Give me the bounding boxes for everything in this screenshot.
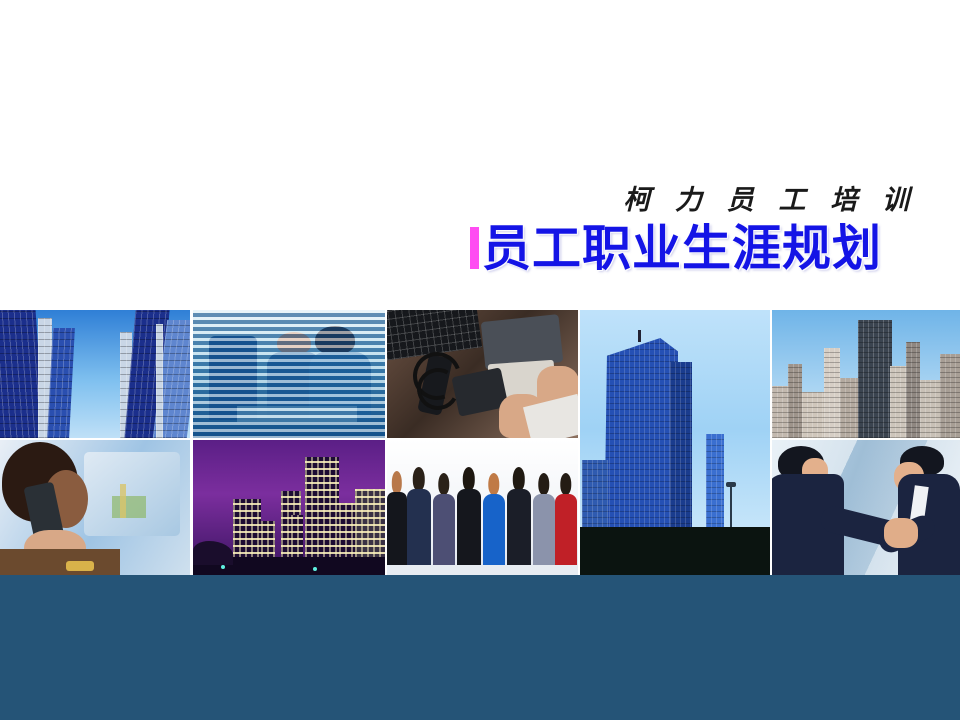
photo-glass-office-towers-upward: [0, 310, 190, 438]
photo-woman-on-phone-at-monitor: [0, 440, 190, 575]
photo-strip: [0, 310, 960, 575]
photo-city-skyline-daylight: [772, 310, 960, 438]
photo-business-handshake: [772, 440, 960, 575]
presentation-slide: 柯 力 员 工 培 训 员工职业生涯规划: [0, 0, 960, 720]
photo-city-skyline-night: [193, 440, 385, 575]
main-title-row: 员工职业生涯规划: [280, 224, 920, 273]
title-accent-bar: [470, 227, 479, 269]
slide-subtitle: 柯 力 员 工 培 训: [280, 186, 920, 216]
photo-blue-skyscraper-tall: [580, 310, 770, 575]
page-title: 员工职业生涯规划: [482, 224, 882, 273]
photo-team-lineup-back-view: [387, 440, 578, 575]
title-block: 柯 力 员 工 培 训 员工职业生涯规划: [280, 186, 920, 273]
photo-desk-telephone-and-hands: [387, 310, 578, 438]
photo-office-colleagues-through-blinds: [193, 310, 385, 438]
bottom-color-bar: [0, 575, 960, 720]
